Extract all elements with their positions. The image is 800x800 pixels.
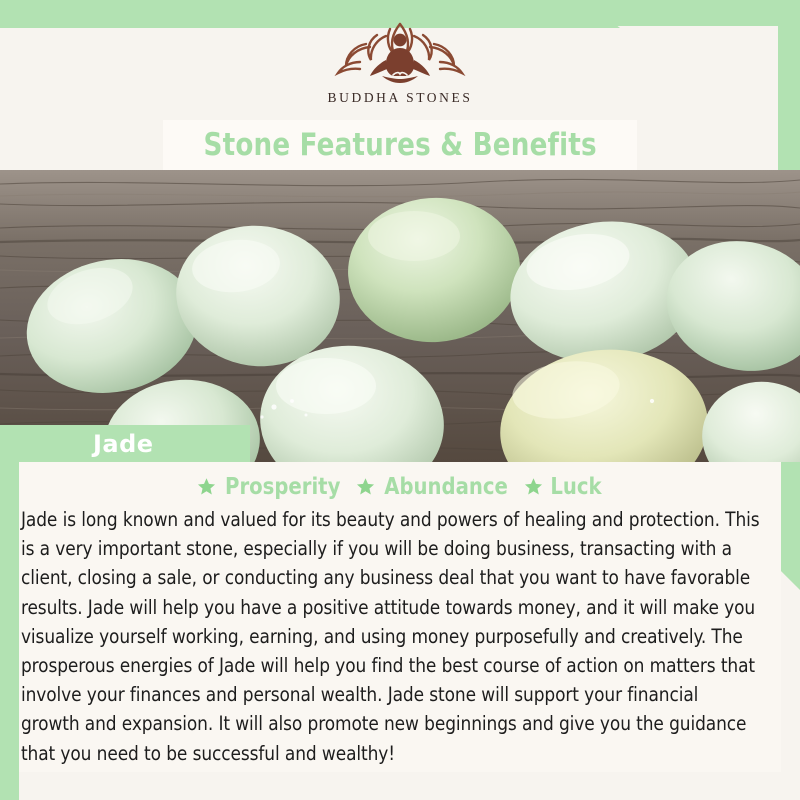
star-icon — [524, 477, 543, 496]
benefit-item-luck: Luck — [524, 474, 603, 500]
benefit-label-luck: Luck — [551, 474, 602, 500]
hero-photo — [0, 170, 800, 462]
stone-name-text: Jade — [93, 430, 154, 458]
brand-name: BUDDHA STONES — [328, 90, 473, 106]
page-title: Stone Features & Benefits — [203, 127, 596, 163]
star-icon — [356, 477, 375, 496]
benefit-item-prosperity: Prosperity — [197, 474, 343, 500]
content-panel: Prosperity Abundance Luck Jade is long k… — [19, 462, 781, 772]
benefits-row: Prosperity Abundance Luck — [19, 470, 781, 503]
section-title-banner: Stone Features & Benefits — [163, 120, 637, 170]
lotus-meditation-icon — [330, 14, 470, 86]
infographic-page: BUDDHA STONES Stone Features & Benefits — [0, 0, 800, 800]
star-icon — [197, 477, 216, 496]
benefit-item-abundance: Abundance — [356, 474, 511, 500]
stone-description: Jade is long known and valued for its be… — [19, 505, 762, 768]
stone-name-label: Jade — [0, 425, 250, 463]
decorative-green-left-band — [0, 462, 19, 800]
benefit-label-abundance: Abundance — [384, 474, 508, 500]
benefit-label-prosperity: Prosperity — [225, 474, 340, 500]
jade-stones-photo — [0, 170, 800, 462]
logo-lockup: BUDDHA STONES — [0, 14, 800, 106]
